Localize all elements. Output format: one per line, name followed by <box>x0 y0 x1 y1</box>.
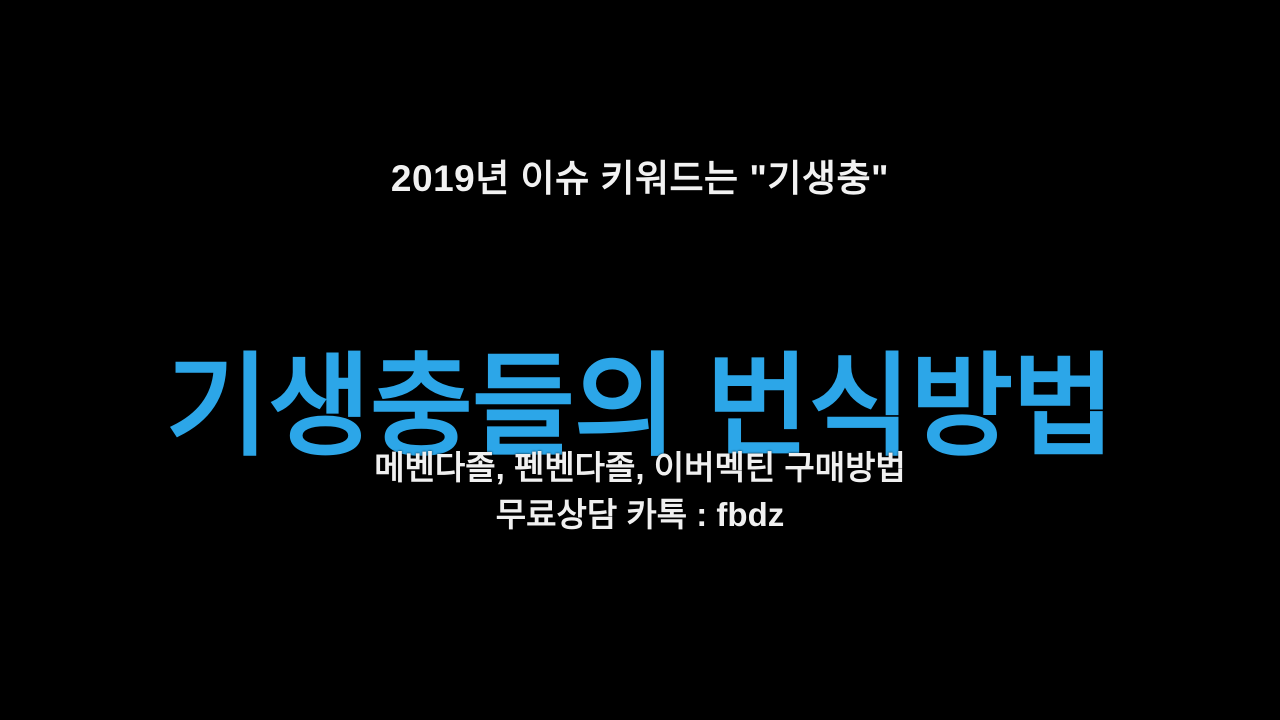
video-title-card: 2019년 이슈 키워드는 "기생충" 기생충들의 번식방법 메벤다졸, 펜벤다… <box>0 0 1280 720</box>
subtitle-line-contact: 무료상담 카톡 : fbdz <box>0 492 1280 539</box>
subtitle-block: 메벤다졸, 펜벤다졸, 이버멕틴 구매방법 무료상담 카톡 : fbdz <box>0 445 1280 539</box>
subtitle-line-products: 메벤다졸, 펜벤다졸, 이버멕틴 구매방법 <box>0 445 1280 492</box>
kicker-line: 2019년 이슈 키워드는 "기생충" <box>0 158 1280 201</box>
